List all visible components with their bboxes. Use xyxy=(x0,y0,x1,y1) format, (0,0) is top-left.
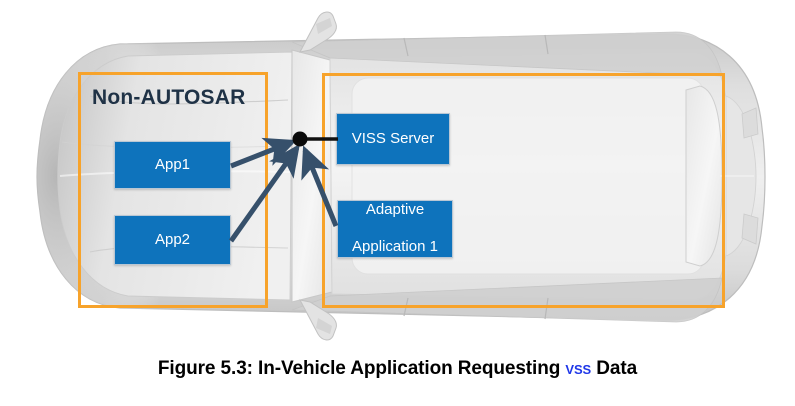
component-viss-server[interactable]: VISS Server xyxy=(336,113,450,165)
component-adaptive-application-1[interactable]: Adaptive Application 1 xyxy=(337,200,453,258)
zone-autosar-adaptive xyxy=(322,73,725,308)
zone-non-autosar-title: Non-AUTOSAR xyxy=(92,86,245,110)
architecture-diagram: Non-AUTOSAR App1 App2 VISS Server Adapti… xyxy=(0,0,795,350)
viss-junction-node xyxy=(293,132,308,147)
component-app2[interactable]: App2 xyxy=(114,215,231,265)
component-adaptive-application-1-line2: Application 1 xyxy=(346,238,444,257)
component-adaptive-application-1-label: Adaptive Application 1 xyxy=(340,201,450,257)
component-app1-label: App1 xyxy=(149,156,196,175)
figure-caption-vss-term: VSS xyxy=(565,358,591,379)
figure-page: Non-AUTOSAR App1 App2 VISS Server Adapti… xyxy=(0,0,795,406)
component-viss-server-label: VISS Server xyxy=(346,130,441,149)
figure-caption-prefix: Figure 5.3: In-Vehicle Application Reque… xyxy=(158,358,565,379)
component-adaptive-application-1-line1: Adaptive xyxy=(346,201,444,220)
component-app2-label: App2 xyxy=(149,231,196,250)
figure-caption: Figure 5.3: In-Vehicle Application Reque… xyxy=(0,358,795,380)
figure-caption-suffix: Data xyxy=(591,358,637,379)
component-app1[interactable]: App1 xyxy=(114,141,231,189)
